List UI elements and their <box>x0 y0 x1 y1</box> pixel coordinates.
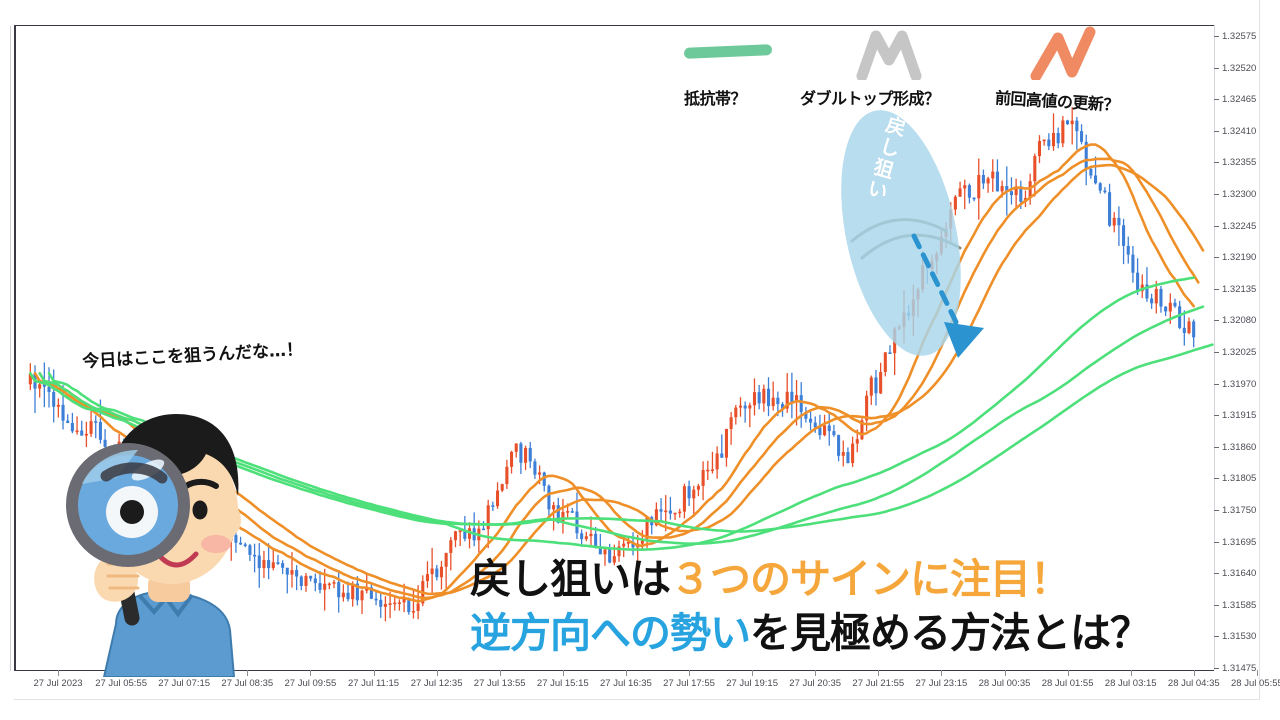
time-tick-label: 27 Jul 19:15 <box>726 678 778 689</box>
price-tick-label: 1.31805 <box>1214 473 1256 485</box>
gray-m-icon <box>856 28 922 80</box>
headline: 戻し狙いは３つのサインに注目！ 逆方向への勢いを見極める方法とは？ <box>470 552 1210 660</box>
time-tick-stem <box>1131 670 1132 676</box>
time-tick-label: 27 Jul 15:15 <box>537 678 589 689</box>
price-tick-label: 1.31970 <box>1214 379 1256 391</box>
price-tick-label: 1.32245 <box>1214 221 1256 233</box>
time-tick-label: 27 Jul 05:55 <box>95 678 147 689</box>
time-tick-stem <box>878 670 879 676</box>
price-tick-label: 1.32355 <box>1214 157 1256 169</box>
time-tick-label: 28 Jul 05:55 <box>1231 678 1280 689</box>
time-tick-label: 27 Jul 07:15 <box>158 678 210 689</box>
price-tick-label: 1.31750 <box>1214 505 1256 517</box>
time-tick-stem <box>500 670 501 676</box>
price-tick-label: 1.32190 <box>1214 252 1256 264</box>
time-tick-stem <box>752 670 753 676</box>
time-tick-label: 27 Jul 08:35 <box>221 678 273 689</box>
time-tick-label: 27 Jul 21:55 <box>852 678 904 689</box>
price-tick-label: 1.32135 <box>1214 284 1256 296</box>
price-tick-label: 1.31860 <box>1214 442 1256 454</box>
time-tick-label: 27 Jul 13:55 <box>474 678 526 689</box>
time-tick-stem <box>310 670 311 676</box>
time-tick-label: 28 Jul 03:15 <box>1105 678 1157 689</box>
price-axis: 1.325751.325201.324651.324101.323551.323… <box>1214 25 1280 670</box>
price-tick-label: 1.32300 <box>1214 189 1256 201</box>
time-tick-label: 27 Jul 2023 <box>33 678 82 689</box>
price-tick-label: 1.31585 <box>1214 600 1256 612</box>
price-tick-label: 1.32025 <box>1214 347 1256 359</box>
time-tick-stem <box>563 670 564 676</box>
legend-label-double-top: ダブルトップ形成？ <box>800 85 940 109</box>
price-tick-label: 1.31915 <box>1214 410 1256 422</box>
price-tick-label: 1.31640 <box>1214 568 1256 580</box>
time-tick-label: 27 Jul 09:55 <box>285 678 337 689</box>
price-tick-label: 1.31530 <box>1214 631 1256 643</box>
headline-l2-plain: を見極める方法とは？ <box>750 609 1150 657</box>
headline-l1-accent: ３つのサインに注目！ <box>670 555 1070 603</box>
time-tick-label: 27 Jul 11:15 <box>348 678 399 689</box>
time-tick-label: 27 Jul 16:35 <box>600 678 652 689</box>
dashed-down-arrow-icon <box>900 230 1010 370</box>
time-tick-label: 27 Jul 12:35 <box>411 678 463 689</box>
time-tick-stem <box>1257 670 1258 676</box>
legend-label-resistance: 抵抗帯？ <box>684 85 746 109</box>
time-tick-stem <box>1194 670 1195 676</box>
headline-l1-plain: 戻し狙いは <box>470 555 670 603</box>
headline-line-2: 逆方向への勢いを見極める方法とは？ <box>470 606 1210 660</box>
time-tick-stem <box>1068 670 1069 676</box>
time-tick-stem <box>689 670 690 676</box>
price-tick-label: 1.31695 <box>1214 537 1256 549</box>
time-tick-stem <box>1005 670 1006 676</box>
time-tick-stem <box>374 670 375 676</box>
price-tick-label: 1.32410 <box>1214 126 1256 138</box>
headline-l2-accent: 逆方向への勢い <box>470 609 750 657</box>
price-tick-label: 1.32080 <box>1214 315 1256 327</box>
green-bar-icon <box>684 44 772 59</box>
time-tick-label: 28 Jul 00:35 <box>979 678 1031 689</box>
time-tick-label: 27 Jul 20:35 <box>789 678 841 689</box>
time-tick-label: 27 Jul 23:15 <box>916 678 968 689</box>
screenshot-root: 1.325751.325201.324651.324101.323551.323… <box>0 0 1280 720</box>
time-tick-label: 27 Jul 17:55 <box>663 678 715 689</box>
time-tick-stem <box>437 670 438 676</box>
boy-with-magnifier-illustration <box>20 392 300 677</box>
time-tick-label: 28 Jul 01:55 <box>1042 678 1094 689</box>
legend-label-previous-high: 前回高値の更新？ <box>994 84 1119 116</box>
time-tick-stem <box>626 670 627 676</box>
time-tick-stem <box>815 670 816 676</box>
headline-line-1: 戻し狙いは３つのサインに注目！ <box>470 552 1210 606</box>
legend-row: 抵抗帯？ ダブルトップ形成？ 前回高値の更新？ <box>0 0 1280 120</box>
time-tick-stem <box>941 670 942 676</box>
orange-n-icon <box>1028 26 1098 80</box>
time-tick-label: 28 Jul 04:35 <box>1168 678 1220 689</box>
